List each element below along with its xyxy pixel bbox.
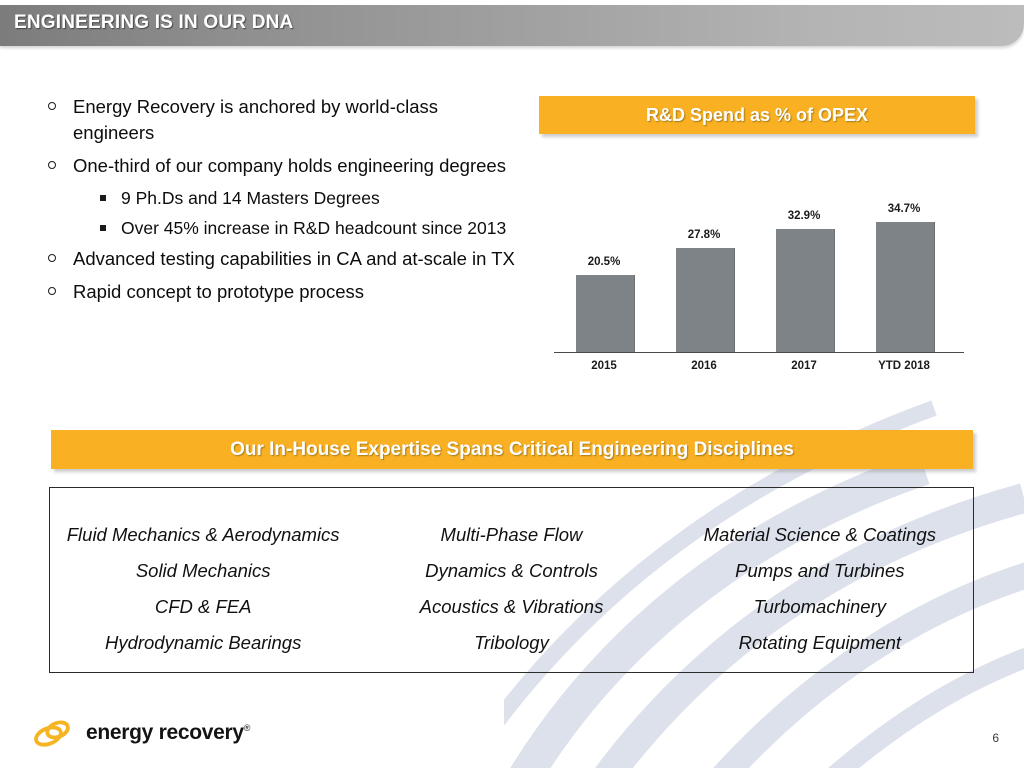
list-item-label: Rapid concept to prototype process — [73, 279, 364, 305]
expertise-discipline: Dynamics & Controls — [357, 553, 665, 589]
chart-bar-group: 20.5% — [554, 160, 654, 352]
page-title: ENGINEERING IS IN OUR DNA — [14, 12, 293, 34]
chart-bar-value-label: 27.8% — [654, 229, 754, 241]
expertise-grid: Fluid Mechanics & AerodynamicsMulti-Phas… — [49, 487, 974, 673]
company-logo: energy recovery® — [30, 716, 250, 750]
chart-bar — [776, 229, 835, 352]
chart-bar-group: 27.8% — [654, 160, 754, 352]
bullet-list: Energy Recovery is anchored by world-cla… — [48, 94, 518, 312]
chart-bar-group: 34.7% — [854, 160, 954, 352]
expertise-discipline: Hydrodynamic Bearings — [49, 625, 357, 661]
list-item-label: 9 Ph.Ds and 14 Masters Degrees — [121, 186, 380, 211]
page-number: 6 — [992, 731, 999, 745]
chart-bar-value-label: 32.9% — [754, 210, 854, 222]
list-item-label: Energy Recovery is anchored by world-cla… — [73, 94, 518, 146]
logo-wordmark-text: energy recovery — [86, 721, 244, 744]
chart-plot-area: 20.5%27.8%32.9%34.7% — [548, 160, 968, 352]
chart-category-label: 2015 — [554, 360, 654, 372]
expertise-discipline: Material Science & Coatings — [666, 517, 974, 553]
chart-x-axis — [554, 352, 964, 353]
list-item: One-third of our company holds engineeri… — [48, 153, 518, 179]
chart-title-label: R&D Spend as % of OPEX — [646, 105, 868, 126]
chart-bar — [876, 222, 935, 352]
chart-category-label: YTD 2018 — [854, 360, 954, 372]
expertise-discipline: Solid Mechanics — [49, 553, 357, 589]
list-item-label: Advanced testing capabilities in CA and … — [73, 246, 515, 272]
chart-category-label: 2016 — [654, 360, 754, 372]
list-item: Energy Recovery is anchored by world-cla… — [48, 94, 518, 146]
chart-bar — [676, 248, 735, 352]
hollow-circle-bullet-icon — [48, 161, 56, 169]
hollow-circle-bullet-icon — [48, 287, 56, 295]
expertise-discipline: Multi-Phase Flow — [357, 517, 665, 553]
expertise-discipline: Tribology — [357, 625, 665, 661]
logo-wordmark: energy recovery® — [86, 721, 250, 745]
chart-bar — [576, 275, 635, 352]
expertise-discipline: Acoustics & Vibrations — [357, 589, 665, 625]
list-item: Over 45% increase in R&D headcount since… — [48, 216, 518, 241]
filled-square-bullet-icon — [100, 225, 106, 231]
rd-spend-bar-chart: 20.5%27.8%32.9%34.7% 201520162017YTD 201… — [548, 160, 968, 380]
expertise-discipline: Turbomachinery — [666, 589, 974, 625]
list-item: Advanced testing capabilities in CA and … — [48, 246, 518, 272]
chart-bar-group: 32.9% — [754, 160, 854, 352]
expertise-discipline: Pumps and Turbines — [666, 553, 974, 589]
expertise-discipline: CFD & FEA — [49, 589, 357, 625]
expertise-discipline: Fluid Mechanics & Aerodynamics — [49, 517, 357, 553]
filled-square-bullet-icon — [100, 195, 106, 201]
expertise-title-banner: Our In-House Expertise Spans Critical En… — [51, 430, 973, 469]
expertise-title-label: Our In-House Expertise Spans Critical En… — [230, 439, 794, 461]
chart-bar-value-label: 20.5% — [554, 256, 654, 268]
energy-recovery-swirl-icon — [30, 716, 76, 750]
list-item: Rapid concept to prototype process — [48, 279, 518, 305]
list-item: 9 Ph.Ds and 14 Masters Degrees — [48, 186, 518, 211]
chart-title-banner: R&D Spend as % of OPEX — [539, 96, 975, 134]
list-item-label: One-third of our company holds engineeri… — [73, 153, 506, 179]
chart-bar-value-label: 34.7% — [854, 203, 954, 215]
list-item-label: Over 45% increase in R&D headcount since… — [121, 216, 506, 241]
hollow-circle-bullet-icon — [48, 254, 56, 262]
slide: ENGINEERING IS IN OUR DNA Energy Recover… — [0, 0, 1024, 768]
registered-trademark-icon: ® — [244, 723, 250, 733]
hollow-circle-bullet-icon — [48, 102, 56, 110]
expertise-discipline: Rotating Equipment — [666, 625, 974, 661]
chart-category-label: 2017 — [754, 360, 854, 372]
